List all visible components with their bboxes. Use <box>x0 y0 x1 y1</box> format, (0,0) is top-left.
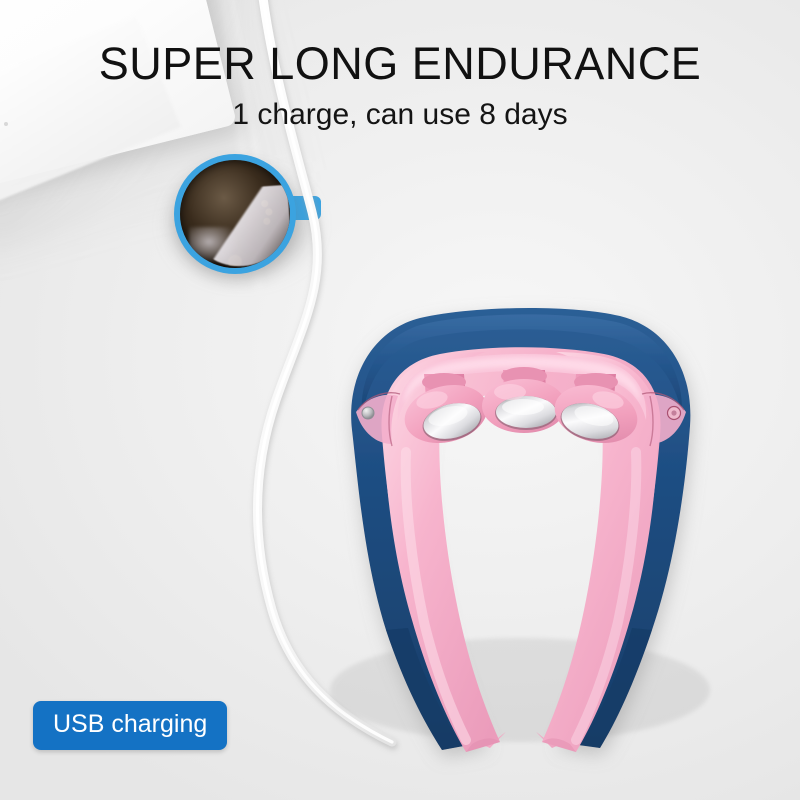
product-banner-scene: SUPER LONG ENDURANCE 1 charge, can use 8… <box>0 0 800 800</box>
device-ground-shadow <box>330 638 710 742</box>
usb-charging-badge[interactable]: USB charging <box>33 701 227 750</box>
page-subtitle: 1 charge, can use 8 days <box>0 98 800 132</box>
page-title: SUPER LONG ENDURANCE <box>0 40 800 87</box>
